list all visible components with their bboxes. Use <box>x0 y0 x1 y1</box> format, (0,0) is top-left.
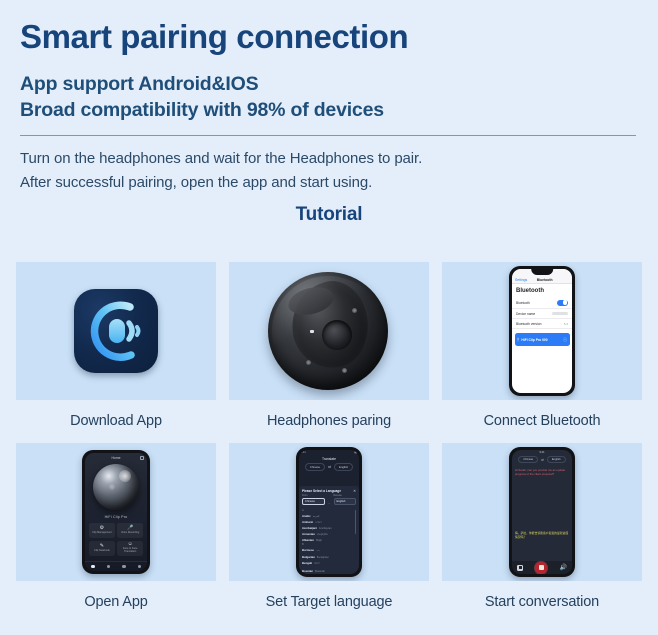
tutorial-grid: Download App Headphones paring <box>16 262 642 624</box>
language-native: Shqip <box>316 539 322 542</box>
app-tab-bar <box>85 561 147 571</box>
nav-bar: Settings Bluetooth <box>512 276 572 284</box>
app-logo-icon <box>74 289 158 373</box>
tab-cloud-icon[interactable] <box>122 565 126 569</box>
header: Smart pairing connection App support And… <box>0 0 658 226</box>
language-name: Burmese <box>302 548 314 552</box>
page-title: Smart pairing connection <box>20 18 638 56</box>
phone-mockup-app-home: Home HiFi Clip Pro ⚙ Clip Management 🎤 <box>82 450 150 574</box>
product-3d-render <box>93 464 139 510</box>
list-scrollbar[interactable] <box>355 510 356 534</box>
step-image-card <box>16 262 216 400</box>
device-name-value <box>552 312 568 315</box>
promo-page: Smart pairing connection App support And… <box>0 0 658 635</box>
step-image-card: Settings Bluetooth Bluetooth Bluetooth D… <box>442 262 642 400</box>
step-image-card: 9:41 ▮▮ Translate Chinese ⇄ English <box>229 443 429 581</box>
language-native: Български <box>317 556 329 559</box>
tutorial-step-open-app: Home HiFi Clip Pro ⚙ Clip Management 🎤 <box>16 443 216 624</box>
settings-row-bluetooth[interactable]: Bluetooth <box>512 297 572 309</box>
row-label: Bluetooth version <box>516 322 541 326</box>
row-label: Bluetooth <box>516 301 530 305</box>
tab-profile-icon[interactable] <box>138 565 142 569</box>
case-center-port <box>322 320 352 350</box>
source-language-chip[interactable]: Chinese <box>518 456 538 463</box>
step-image-card <box>229 262 429 400</box>
step-caption: Open App <box>16 581 216 624</box>
app-top-bar-title: Home <box>111 456 120 460</box>
app-feature-tiles: ⚙ Clip Management 🎤 Voice Recording ✎ Cl… <box>85 519 147 556</box>
nav-title: Bluetooth <box>537 278 553 282</box>
language-switch-bar: Chinese ⇄ English <box>512 455 572 465</box>
language-name: Bosnian <box>302 569 313 573</box>
list-item[interactable]: Bengali বাংলা <box>302 560 356 568</box>
record-button[interactable] <box>535 562 547 574</box>
record-button-inner <box>539 565 544 570</box>
back-button[interactable]: Settings <box>515 278 527 282</box>
language-name: Arabic <box>302 514 311 518</box>
tile-clip-notebook[interactable]: ✎ Clip Notebook <box>89 541 115 556</box>
close-icon[interactable]: ✕ <box>353 489 356 493</box>
language-name: Bengali <box>302 561 312 565</box>
step-caption: Set Target language <box>229 581 429 624</box>
source-language-chip[interactable]: Chinese <box>305 463 325 471</box>
conversation-toolbar: 🔊 <box>512 561 572 574</box>
tutorial-step-download-app: Download App <box>16 262 216 443</box>
screen-title: Translate <box>299 455 359 462</box>
paired-device-item[interactable]: ᛗ HiFi Clip Pro 000 ⓘ <box>515 333 570 346</box>
bluetooth-toggle[interactable] <box>557 300 568 306</box>
language-native: Bosanski <box>315 570 325 573</box>
language-native: Հայերեն <box>317 533 328 536</box>
language-native: العربية <box>313 515 320 518</box>
phone-screen: 9:41 Chinese ⇄ English Hi Sarah, can you… <box>512 450 572 574</box>
tab-files-icon[interactable] <box>107 565 111 569</box>
swap-languages-icon[interactable]: ⇄ <box>328 465 331 469</box>
language-name: Bulgarian <box>302 555 315 559</box>
step-caption: Start conversation <box>442 581 642 624</box>
phone-screen: 9:41 ▮▮ Translate Chinese ⇄ English <box>299 450 359 574</box>
tutorial-step-connect-bluetooth: Settings Bluetooth Bluetooth Bluetooth D… <box>442 262 642 443</box>
description-line-2: After successful pairing, open the app a… <box>20 171 638 194</box>
keyboard-icon[interactable] <box>517 565 523 571</box>
language-native: አማርኛ <box>315 521 322 524</box>
language-name: Armenian <box>302 532 315 536</box>
list-item[interactable]: Bosnian Bosanski <box>302 568 356 574</box>
subtitle-block: App support Android&IOS Broad compatibil… <box>20 72 638 123</box>
tile-voice-recording[interactable]: 🎤 Voice Recording <box>117 523 143 538</box>
to-selector: Receive English <box>334 495 357 505</box>
tile-label: Voice Recording <box>121 532 139 535</box>
app-top-bar: Home <box>85 453 147 462</box>
tile-clip-management[interactable]: ⚙ Clip Management <box>89 523 115 538</box>
step-caption: Connect Bluetooth <box>442 400 642 443</box>
screen-title: Bluetooth <box>512 284 572 297</box>
tutorial-step-start-conversation: 9:41 Chinese ⇄ English Hi Sarah, can you… <box>442 443 642 624</box>
language-name: Azerbaijani <box>302 526 317 530</box>
list-item[interactable]: Burmese ဗမာ <box>302 547 356 554</box>
from-label: From <box>302 495 325 497</box>
message-source: Hi Sarah, can you provide me an update p… <box>515 468 569 476</box>
row-value: 5.3 <box>564 322 568 326</box>
language-native: বাংলা <box>314 562 320 567</box>
subtitle-line-1: App support Android&IOS <box>20 72 638 98</box>
settings-row-device-name[interactable]: Device name <box>512 309 572 319</box>
phone-mockup-conversation: 9:41 Chinese ⇄ English Hi Sarah, can you… <box>509 447 575 577</box>
target-language-chip[interactable]: English <box>547 456 566 463</box>
case-screw-dot <box>342 368 347 373</box>
settings-icon[interactable] <box>140 456 144 460</box>
from-selector: From Chinese <box>302 495 325 505</box>
info-icon[interactable]: ⓘ <box>563 337 567 343</box>
device-name: HiFi Clip Pro 000 <box>521 338 547 342</box>
target-language-chip[interactable]: English <box>334 463 353 471</box>
case-screw-dot <box>306 360 311 365</box>
language-switch-bar: Chinese ⇄ English <box>299 462 359 474</box>
speaker-icon[interactable]: 🔊 <box>560 565 567 571</box>
language-list[interactable]: A Arabic العربية Amharic አማርኛ <box>302 508 356 574</box>
tutorial-step-headphones-pairing: Headphones paring <box>229 262 429 443</box>
phone-notch <box>531 269 553 275</box>
header-divider <box>20 135 636 136</box>
tile-label: Face to Face Translation <box>117 548 143 554</box>
phone-screen: Settings Bluetooth Bluetooth Bluetooth D… <box>512 269 572 393</box>
language-name: Amharic <box>302 520 313 524</box>
tile-label: Clip Management <box>92 532 112 535</box>
conversation-body: Hi Sarah, can you provide me an update p… <box>512 465 572 561</box>
tutorial-step-set-target-language: 9:41 ▮▮ Translate Chinese ⇄ English <box>229 443 429 624</box>
status-time: 9:41 <box>301 451 306 454</box>
headphone-case-image <box>266 268 392 394</box>
device-left-group: ᛗ HiFi Clip Pro 000 <box>517 337 548 342</box>
message-translated: 嗨，萨拉，你能告诉我客户提案的最新进展情况吗？ <box>515 531 569 539</box>
bluetooth-icon: ᛗ <box>517 337 519 342</box>
swap-languages-icon[interactable]: ⇄ <box>541 458 544 462</box>
dialog-title: Please Select a Language <box>302 489 341 493</box>
tile-label: Clip Notebook <box>94 550 110 553</box>
tutorial-heading: Tutorial <box>20 204 638 226</box>
content-spacer <box>299 474 359 486</box>
language-native: Azərbaycan <box>319 527 332 530</box>
phone-screen: Home HiFi Clip Pro ⚙ Clip Management 🎤 <box>85 453 147 571</box>
step-image-card: Home HiFi Clip Pro ⚙ Clip Management 🎤 <box>16 443 216 581</box>
from-value[interactable]: Chinese <box>302 498 325 505</box>
case-led-indicator <box>310 330 314 333</box>
arrow-right-icon: → <box>328 496 331 505</box>
language-native: ဗမာ <box>316 549 320 553</box>
language-picker-dialog: Please Select a Language ✕ From Chinese … <box>299 486 359 574</box>
dialog-selectors: From Chinese → Receive English <box>302 495 356 505</box>
phone-mockup-language: 9:41 ▮▮ Translate Chinese ⇄ English <box>296 447 362 577</box>
language-name: Albanian <box>302 538 314 542</box>
phone-mockup-bluetooth: Settings Bluetooth Bluetooth Bluetooth D… <box>509 266 575 396</box>
tile-face-to-face-translation[interactable]: ☺ Face to Face Translation <box>117 541 143 556</box>
settings-row-bluetooth-version: Bluetooth version 5.3 <box>512 319 572 329</box>
step-caption: Download App <box>16 400 216 443</box>
subtitle-line-2: Broad compatibility with 98% of devices <box>20 98 638 124</box>
to-value[interactable]: English <box>334 498 357 505</box>
case-screw-dot <box>352 308 357 313</box>
tab-home-icon[interactable] <box>91 565 95 569</box>
to-label: Receive <box>334 495 357 497</box>
step-image-card: 9:41 Chinese ⇄ English Hi Sarah, can you… <box>442 443 642 581</box>
row-label: Device name <box>516 312 535 316</box>
pencil-icon: ✎ <box>100 544 104 549</box>
description-line-1: Turn on the headphones and wait for the … <box>20 147 638 170</box>
description-block: Turn on the headphones and wait for the … <box>20 147 638 194</box>
step-caption: Headphones paring <box>229 400 429 443</box>
dialog-header: Please Select a Language ✕ <box>302 489 356 493</box>
status-indicators: ▮▮ <box>354 451 357 454</box>
